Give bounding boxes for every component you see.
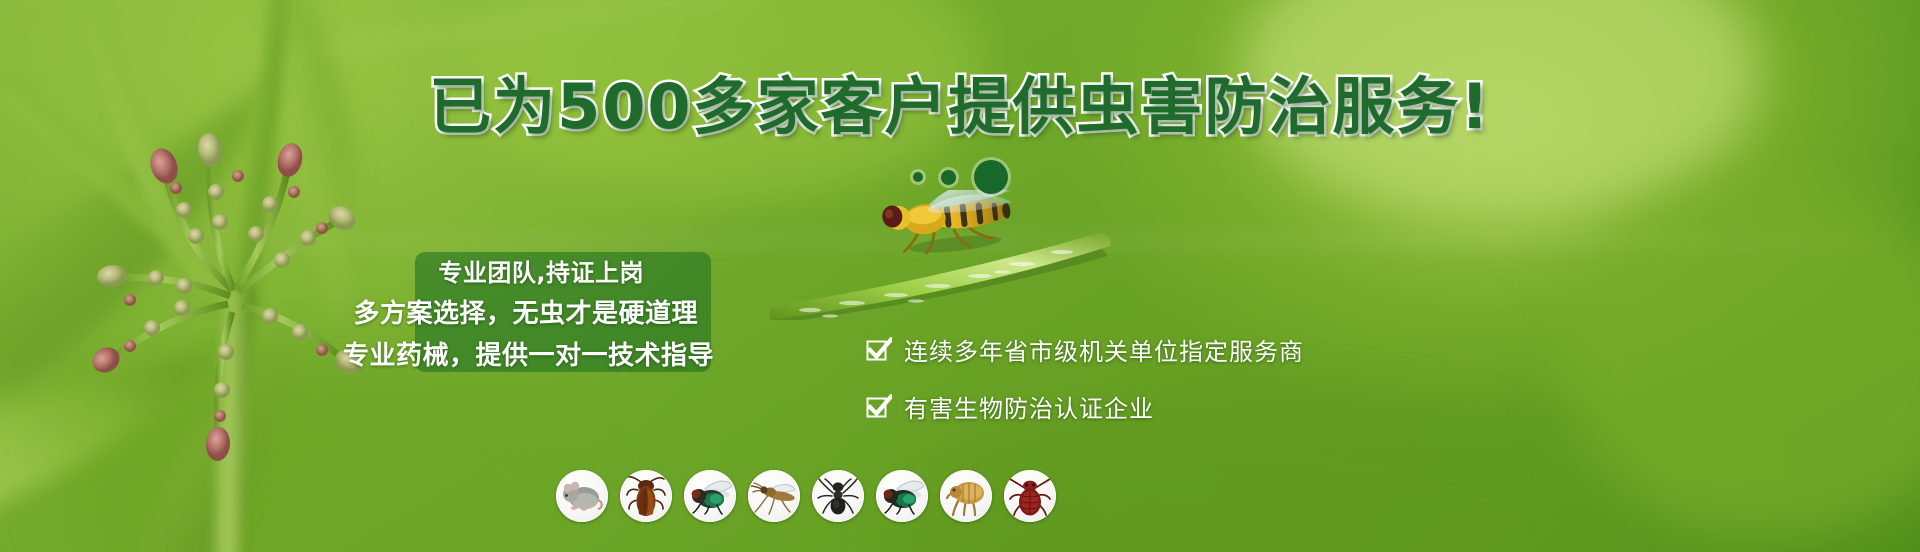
- bedbug-icon[interactable]: [1004, 470, 1056, 522]
- credential-label: 有害生物防治认证企业: [904, 389, 1154, 424]
- pest-type-icon-row: [556, 470, 1056, 522]
- selling-point-line-2: 多方案选择，无虫才是硬道理: [353, 293, 698, 330]
- grass-blade-with-hoverfly-image: [770, 190, 1240, 320]
- decorative-dot-row: [0, 160, 1920, 194]
- credential-item: 有害生物防治认证企业: [866, 389, 1304, 424]
- dot-medium-icon: [941, 170, 956, 185]
- checkbox-checked-icon: [866, 394, 892, 420]
- ant-icon[interactable]: [812, 470, 864, 522]
- checkbox-checked-icon: [866, 337, 892, 363]
- rodent-icon[interactable]: [556, 470, 608, 522]
- dot-large-icon: [974, 160, 1008, 194]
- selling-points-text-group: 专业团队,持证上岗 多方案选择，无虫才是硬道理 专业药械，提供一对一技术指导: [330, 252, 720, 372]
- background-light-streak: [232, 0, 788, 67]
- flea-icon[interactable]: [940, 470, 992, 522]
- promotional-banner: 已为500多家客户提供虫害防治服务! 专业团队,持证上岗 多方案选择，无虫才是硬…: [0, 0, 1920, 552]
- credential-label: 连续多年省市级机关单位指定服务商: [904, 332, 1304, 367]
- credential-item: 连续多年省市级机关单位指定服务商: [866, 332, 1304, 367]
- blowfly-icon[interactable]: [876, 470, 928, 522]
- dot-small-icon: [913, 172, 923, 182]
- mosquito-icon[interactable]: [748, 470, 800, 522]
- cockroach-icon[interactable]: [620, 470, 672, 522]
- banner-headline: 已为500多家客户提供虫害防治服务!: [0, 76, 1920, 138]
- selling-point-line-1: 专业团队,持证上岗: [438, 253, 644, 288]
- background-blur-blob: [1560, 180, 1920, 540]
- selling-point-line-3: 专业药械，提供一对一技术指导: [343, 335, 714, 372]
- credentials-list: 连续多年省市级机关单位指定服务商 有害生物防治认证企业: [866, 332, 1304, 424]
- background-blur-blob: [60, 360, 580, 552]
- housefly-icon[interactable]: [684, 470, 736, 522]
- banner-headline-text: 已为500多家客户提供虫害防治服务!: [429, 76, 1491, 138]
